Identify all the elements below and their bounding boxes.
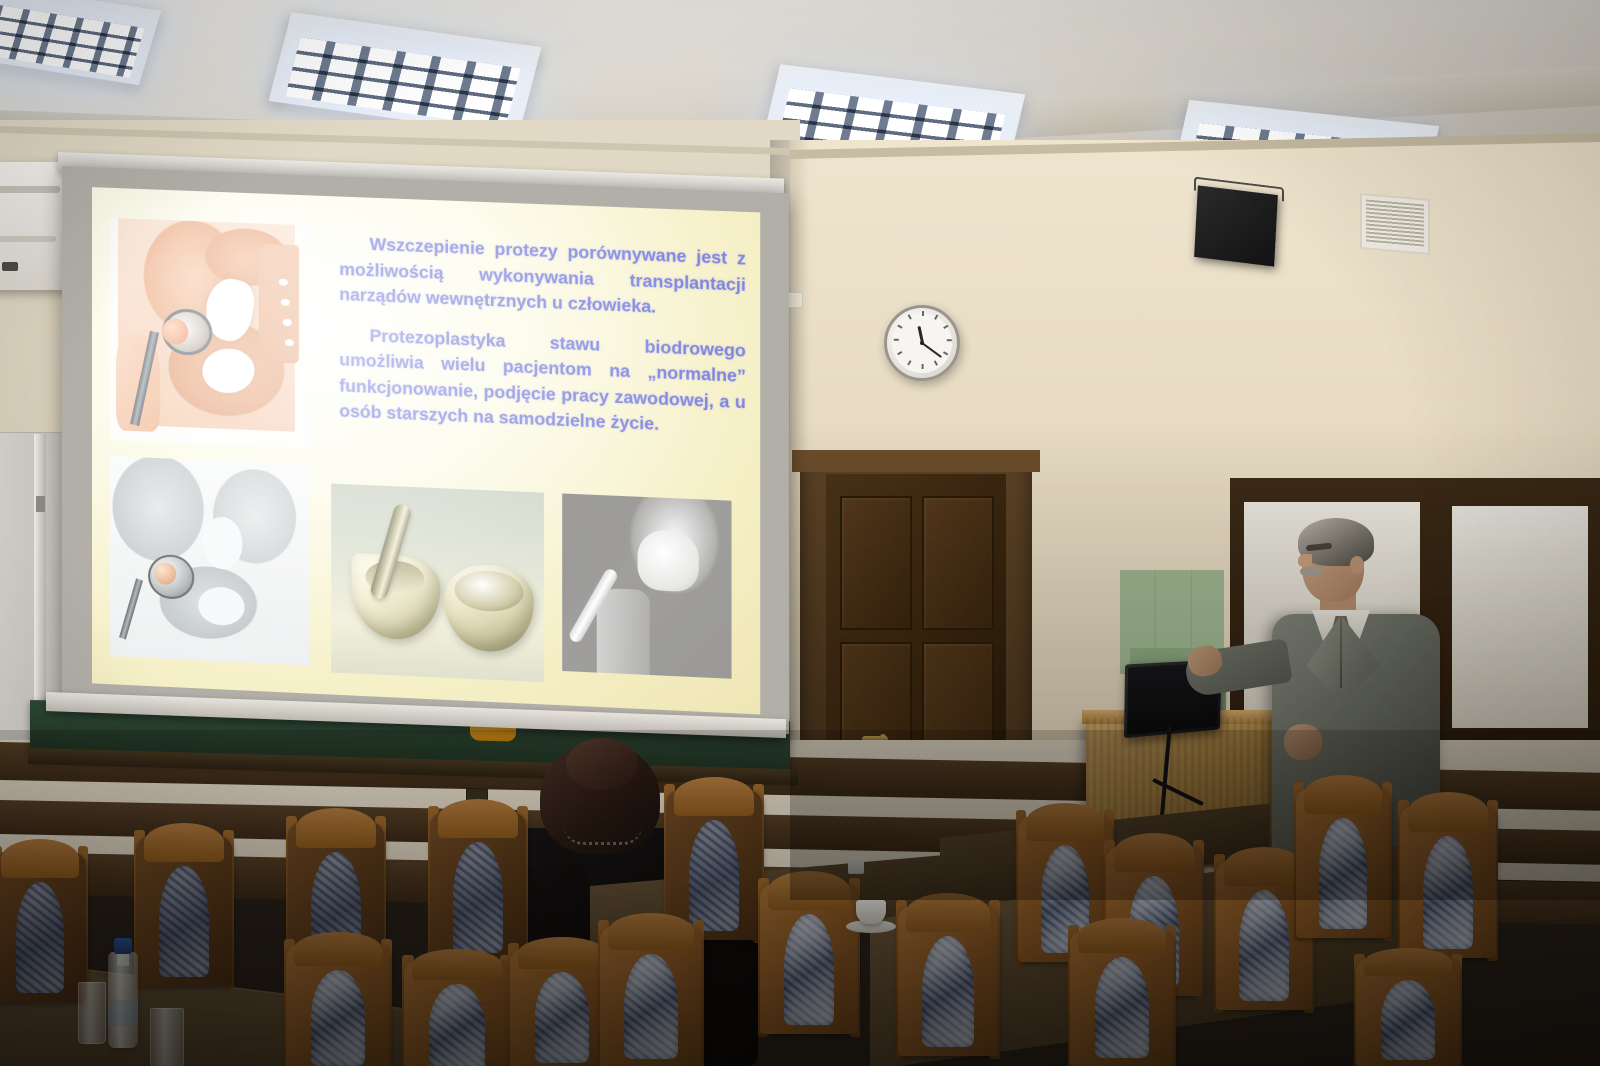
chair[interactable] <box>1070 930 1174 1066</box>
pull-down-projection-screen: Wszczepienie protezy porównywane jest z … <box>62 166 789 734</box>
chair-crest <box>1408 792 1489 832</box>
ac-vent-slot <box>0 236 56 242</box>
chair-crest <box>296 808 377 848</box>
metal-prosthesis-photo <box>331 484 544 683</box>
chair-upholstery <box>689 820 739 931</box>
chair[interactable] <box>430 812 526 962</box>
conference-room-scene: Wszczepienie protezy porównywane jest z … <box>0 0 1600 1066</box>
chair[interactable] <box>286 944 390 1066</box>
necklace <box>564 826 642 845</box>
chair-upholstery <box>1423 836 1473 948</box>
clock-center-pin <box>920 341 924 345</box>
chair[interactable] <box>760 884 858 1034</box>
hip-anatomy-illustration <box>110 218 311 449</box>
chair-upholstery <box>624 954 677 1059</box>
chair[interactable] <box>600 926 702 1066</box>
chair-upholstery <box>429 984 484 1066</box>
salt-shaker[interactable] <box>848 856 864 874</box>
bottle-neck <box>117 952 129 966</box>
panel-hinge-strip <box>34 434 46 742</box>
chair-upholstery <box>1381 980 1435 1060</box>
sacrum-drawing <box>259 244 299 364</box>
chair-crest <box>1224 847 1305 886</box>
chair-upholstery <box>1095 957 1149 1058</box>
moustache <box>1300 568 1322 575</box>
ac-display <box>2 262 18 271</box>
hand-on-lectern <box>1284 724 1322 760</box>
ear <box>1350 556 1364 574</box>
chair-upholstery <box>535 972 589 1062</box>
chair-crest <box>1078 918 1165 953</box>
chair-crest <box>1304 775 1383 814</box>
chair-crest <box>294 932 381 966</box>
slide-paragraph-2: Protezoplastyka stawu biodrowego umożliw… <box>339 322 746 442</box>
chair[interactable] <box>1356 958 1460 1066</box>
drinking-glass-2[interactable] <box>150 1008 184 1066</box>
bottle-cap[interactable] <box>114 938 132 954</box>
wall-speaker <box>1194 185 1278 266</box>
chair-upholstery <box>784 914 835 1025</box>
chair-crest <box>768 871 850 910</box>
chair-crest <box>144 823 225 862</box>
door-panel <box>922 496 994 630</box>
hinge-icon <box>36 496 45 512</box>
slide-text-block: Wszczepienie protezy porównywane jest z … <box>339 231 746 442</box>
chair-upholstery <box>16 882 64 993</box>
wall-clock <box>884 305 960 381</box>
bottle-label <box>108 1000 138 1026</box>
chair-upholstery <box>453 842 503 953</box>
chair-upholstery <box>922 936 974 1047</box>
chair-crest <box>518 937 605 969</box>
femoral-head-drawing <box>162 318 188 345</box>
chair-upholstery <box>159 866 209 977</box>
chair-crest <box>412 949 501 980</box>
ac-vent-slot <box>0 186 60 193</box>
model-femoral-head <box>154 562 176 585</box>
door-panel <box>840 496 912 630</box>
hip-xray-photo <box>562 493 731 678</box>
chair[interactable] <box>136 836 232 986</box>
door-header <box>792 450 1040 472</box>
chair-crest <box>608 913 694 950</box>
drinking-glass-1[interactable] <box>78 982 106 1044</box>
xray-prosthesis-head <box>638 529 699 592</box>
chair-crest <box>906 893 990 932</box>
chair[interactable] <box>404 960 510 1066</box>
hair-bun <box>566 738 638 790</box>
cabinet-panel <box>1452 506 1588 728</box>
chair[interactable] <box>0 852 86 1002</box>
chair[interactable] <box>898 906 998 1056</box>
nose <box>1298 554 1312 567</box>
chair-crest <box>1 839 78 878</box>
pelvis-model-photo <box>110 456 309 665</box>
water-bottle[interactable] <box>108 952 138 1048</box>
projected-slide: Wszczepienie protezy porównywane jest z … <box>92 187 760 714</box>
chair-crest <box>438 799 519 838</box>
slide-paragraph-1: Wszczepienie protezy porównywane jest z … <box>339 231 746 324</box>
chair-crest <box>1114 833 1195 872</box>
xray-femur-shaft <box>597 588 650 679</box>
chair-upholstery <box>1239 890 1289 1001</box>
chair-crest <box>1026 803 1105 841</box>
chair[interactable] <box>1400 806 1496 958</box>
chair-upholstery <box>1319 818 1368 929</box>
chair[interactable] <box>1296 788 1390 938</box>
chair-upholstery <box>311 970 365 1066</box>
ventilation-grille <box>1360 193 1430 255</box>
chair-crest <box>1364 948 1451 976</box>
coffee-cup[interactable] <box>856 900 886 924</box>
chair-crest <box>674 777 755 816</box>
